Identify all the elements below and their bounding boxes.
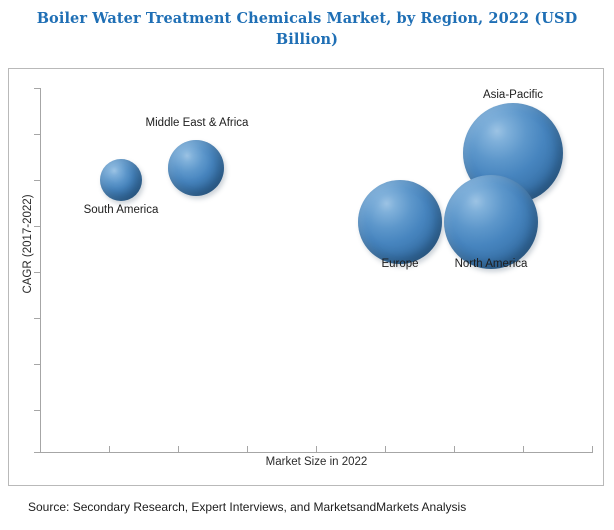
page-title: Boiler Water Treatment Chemicals Market,… bbox=[22, 8, 592, 50]
bubble-north-america[interactable] bbox=[444, 175, 538, 269]
x-axis-tick bbox=[454, 446, 455, 452]
x-axis-tick bbox=[40, 446, 41, 452]
chart-page: Boiler Water Treatment Chemicals Market,… bbox=[0, 0, 614, 530]
y-axis-tick bbox=[34, 410, 40, 411]
y-axis-line bbox=[40, 88, 41, 453]
y-axis-tick bbox=[34, 88, 40, 89]
bubble-label-middle-east-africa: Middle East & Africa bbox=[126, 117, 268, 129]
y-axis-tick bbox=[34, 452, 40, 453]
x-axis-tick bbox=[385, 446, 386, 452]
bubble-label-south-america: South America bbox=[61, 204, 181, 216]
y-axis-title: CAGR (2017-2022) bbox=[22, 154, 34, 334]
y-axis-tick bbox=[34, 318, 40, 319]
y-axis-tick bbox=[34, 180, 40, 181]
bubble-label-europe: Europe bbox=[355, 258, 445, 270]
x-axis-tick bbox=[109, 446, 110, 452]
bubble-label-asia-pacific: Asia-Pacific bbox=[455, 89, 571, 101]
y-axis-tick bbox=[34, 226, 40, 227]
bubble-europe[interactable] bbox=[358, 180, 442, 264]
x-axis-tick bbox=[247, 446, 248, 452]
bubble-middle-east-africa[interactable] bbox=[168, 140, 224, 196]
x-axis-tick bbox=[316, 446, 317, 452]
x-axis-tick bbox=[178, 446, 179, 452]
bubble-south-america[interactable] bbox=[100, 159, 142, 201]
x-axis-tick bbox=[592, 446, 593, 452]
y-axis-tick bbox=[34, 134, 40, 135]
bubble-label-north-america: North America bbox=[438, 258, 544, 270]
source-note: Source: Secondary Research, Expert Inter… bbox=[28, 500, 466, 514]
y-axis-tick bbox=[34, 272, 40, 273]
x-axis-title: Market Size in 2022 bbox=[40, 456, 593, 468]
y-axis-tick bbox=[34, 364, 40, 365]
x-axis-tick bbox=[523, 446, 524, 452]
x-axis-line bbox=[40, 452, 593, 453]
